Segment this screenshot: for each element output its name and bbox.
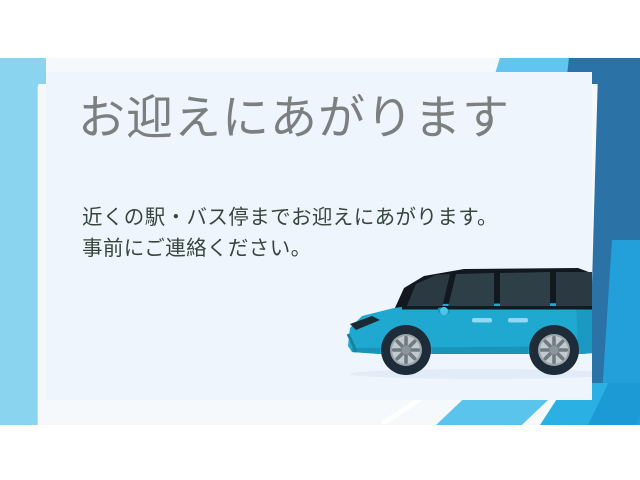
car-window-middle	[500, 272, 550, 307]
car-window-rear	[556, 272, 592, 306]
headline-text: お迎えにあがります	[78, 94, 510, 141]
car-wheel-rear	[529, 325, 579, 375]
car-door-handle-rear	[508, 318, 528, 323]
body-line-1: 近くの駅・バス停までお迎えにあがります。	[82, 202, 498, 233]
accent-shape-top-left-tab	[0, 58, 46, 84]
minivan-illustration	[332, 248, 592, 388]
content-panel: お迎えにあがります 近くの駅・バス停までお迎えにあがります。 事前にご連絡くださ…	[46, 72, 592, 400]
car-mirror-glass	[440, 307, 448, 315]
car-wheel-front	[381, 325, 431, 375]
promo-banner: お迎えにあがります 近くの駅・バス停までお迎えにあがります。 事前にご連絡くださ…	[0, 0, 640, 480]
car-beltline	[402, 306, 592, 310]
car-door-handle-front	[472, 318, 492, 323]
